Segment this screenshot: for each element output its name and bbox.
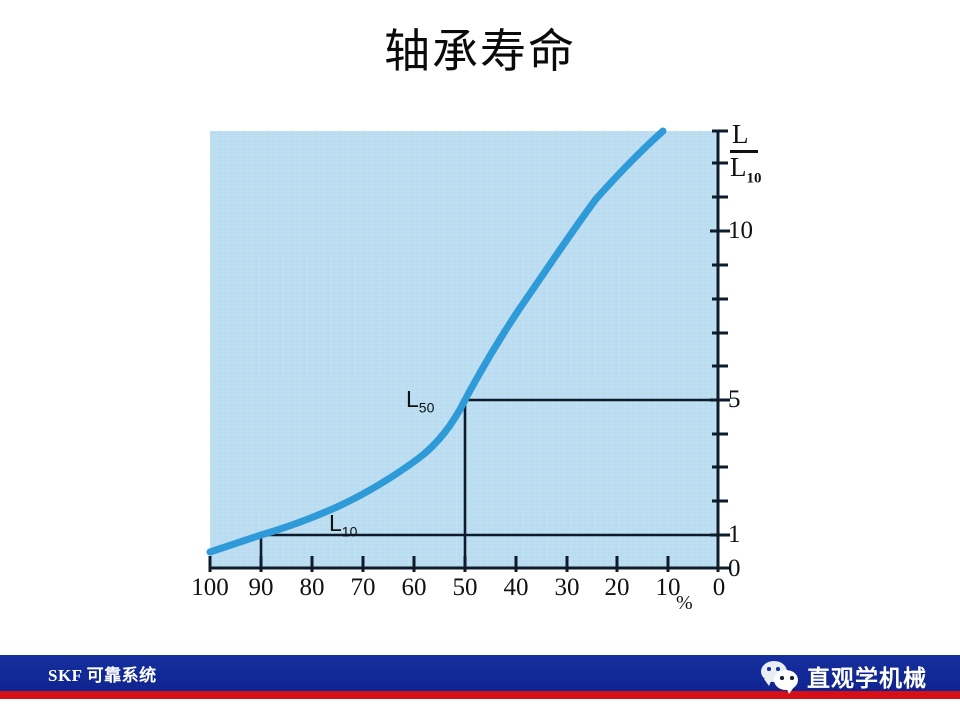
life-curve <box>210 131 663 552</box>
wechat-dot-1 <box>767 667 771 671</box>
y-axis-title: L L10 <box>730 122 790 186</box>
xtick-label-100: 100 <box>183 574 237 602</box>
l50-guide <box>465 400 718 568</box>
wechat-bubble-small <box>774 670 798 690</box>
annotation-l50-label: L <box>406 386 419 412</box>
ytick-label-0: 0 <box>728 555 741 583</box>
y-axis-title-numerator: L <box>730 122 790 148</box>
annotation-l10-sub: 10 <box>342 524 358 540</box>
xtick-label-70: 70 <box>336 574 390 602</box>
xtick-label-60: 60 <box>387 574 441 602</box>
xtick-label-50: 50 <box>438 574 492 602</box>
xtick-label-80: 80 <box>285 574 339 602</box>
wechat-dot-4 <box>790 676 794 680</box>
y-axis-ticks <box>710 131 730 568</box>
wechat-dot-3 <box>780 676 784 680</box>
annotation-l10-label: L <box>329 510 342 536</box>
wechat-dot-2 <box>776 667 780 671</box>
l10-guide <box>261 535 718 568</box>
xtick-label-30: 30 <box>540 574 594 602</box>
annotation-l10: L10 <box>329 510 357 540</box>
xtick-label-40: 40 <box>489 574 543 602</box>
xtick-label-20: 20 <box>590 574 644 602</box>
watermark: 直观学机械 <box>757 652 960 700</box>
wechat-icon <box>761 659 803 693</box>
x-axis-ticks <box>210 556 718 572</box>
y-axis-title-denominator: L10 <box>730 154 790 186</box>
annotation-l50-sub: 50 <box>419 400 435 416</box>
bearing-life-chart: 100 90 80 70 60 50 40 30 20 10 0 % 0 1 5… <box>0 0 960 640</box>
ytick-label-1: 1 <box>728 521 741 549</box>
x-axis-unit-label: % <box>676 592 693 615</box>
ytick-label-10: 10 <box>728 217 753 245</box>
footer-brand-label: SKF 可靠系统 <box>48 661 157 686</box>
xtick-label-90: 90 <box>234 574 288 602</box>
chart-svg <box>0 0 960 640</box>
watermark-text: 直观学机械 <box>807 659 927 693</box>
y-axis-title-denominator-base: L <box>730 152 747 182</box>
annotation-l50: L50 <box>406 386 434 416</box>
ytick-label-5: 5 <box>728 386 741 414</box>
y-axis-title-denominator-sub: 10 <box>747 170 762 186</box>
